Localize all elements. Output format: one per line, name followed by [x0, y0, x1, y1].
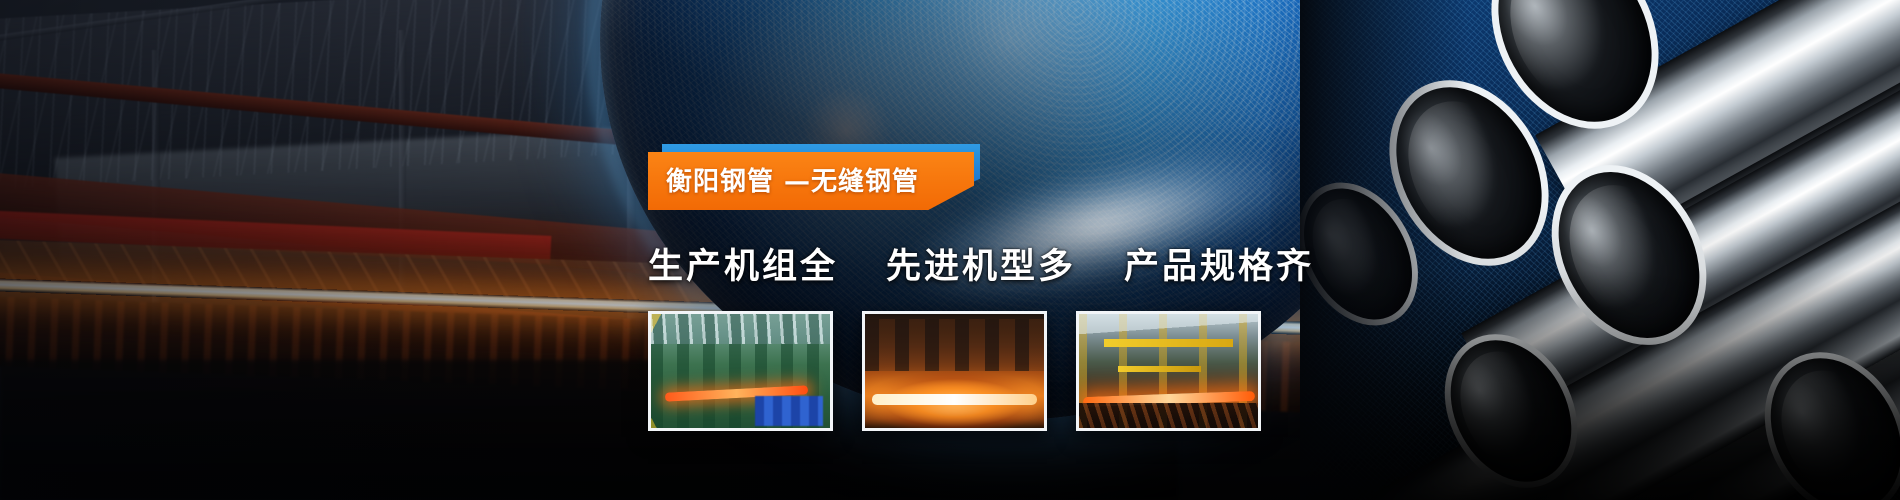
- furnace-machinery: [865, 319, 1044, 371]
- headline-group: 生产机组全 先进机型多 产品规格齐: [648, 238, 1368, 289]
- hero-banner: 衡阳钢管 —无缝钢管 生产机组全 先进机型多 产品规格齐: [0, 0, 1900, 500]
- title-badge: 衡阳钢管 —无缝钢管: [648, 150, 978, 212]
- yellow-walkway: [1118, 366, 1200, 372]
- headline-item-1: 生产机组全: [648, 238, 838, 289]
- continuous-casting-plant-image: [1079, 314, 1258, 428]
- headline-item-2: 先进机型多: [886, 238, 1076, 289]
- blue-machinery: [755, 396, 823, 426]
- yellow-walkway: [1104, 339, 1233, 347]
- thumbnail-casting-plant[interactable]: [1076, 311, 1261, 431]
- thumbnail-hot-billet-furnace[interactable]: [862, 311, 1047, 431]
- thumbnail-steel-rolling-mill[interactable]: [648, 311, 833, 431]
- foreground-scrap: [1079, 403, 1258, 428]
- headline-item-3: 产品规格齐: [1124, 238, 1314, 289]
- badge-label: 衡阳钢管 —无缝钢管: [648, 161, 919, 198]
- banner-content: 衡阳钢管 —无缝钢管 生产机组全 先进机型多 产品规格齐: [648, 150, 1368, 431]
- mill-roof: [651, 314, 830, 344]
- glowing-billet: [872, 394, 1037, 405]
- hot-billet-furnace-image: [865, 314, 1044, 428]
- thumbnail-gallery: [648, 311, 1368, 431]
- steel-pipes-photo: [1300, 0, 1900, 500]
- badge-orange-shape: 衡阳钢管 —无缝钢管: [648, 152, 974, 210]
- steel-rolling-mill-image: [651, 314, 830, 428]
